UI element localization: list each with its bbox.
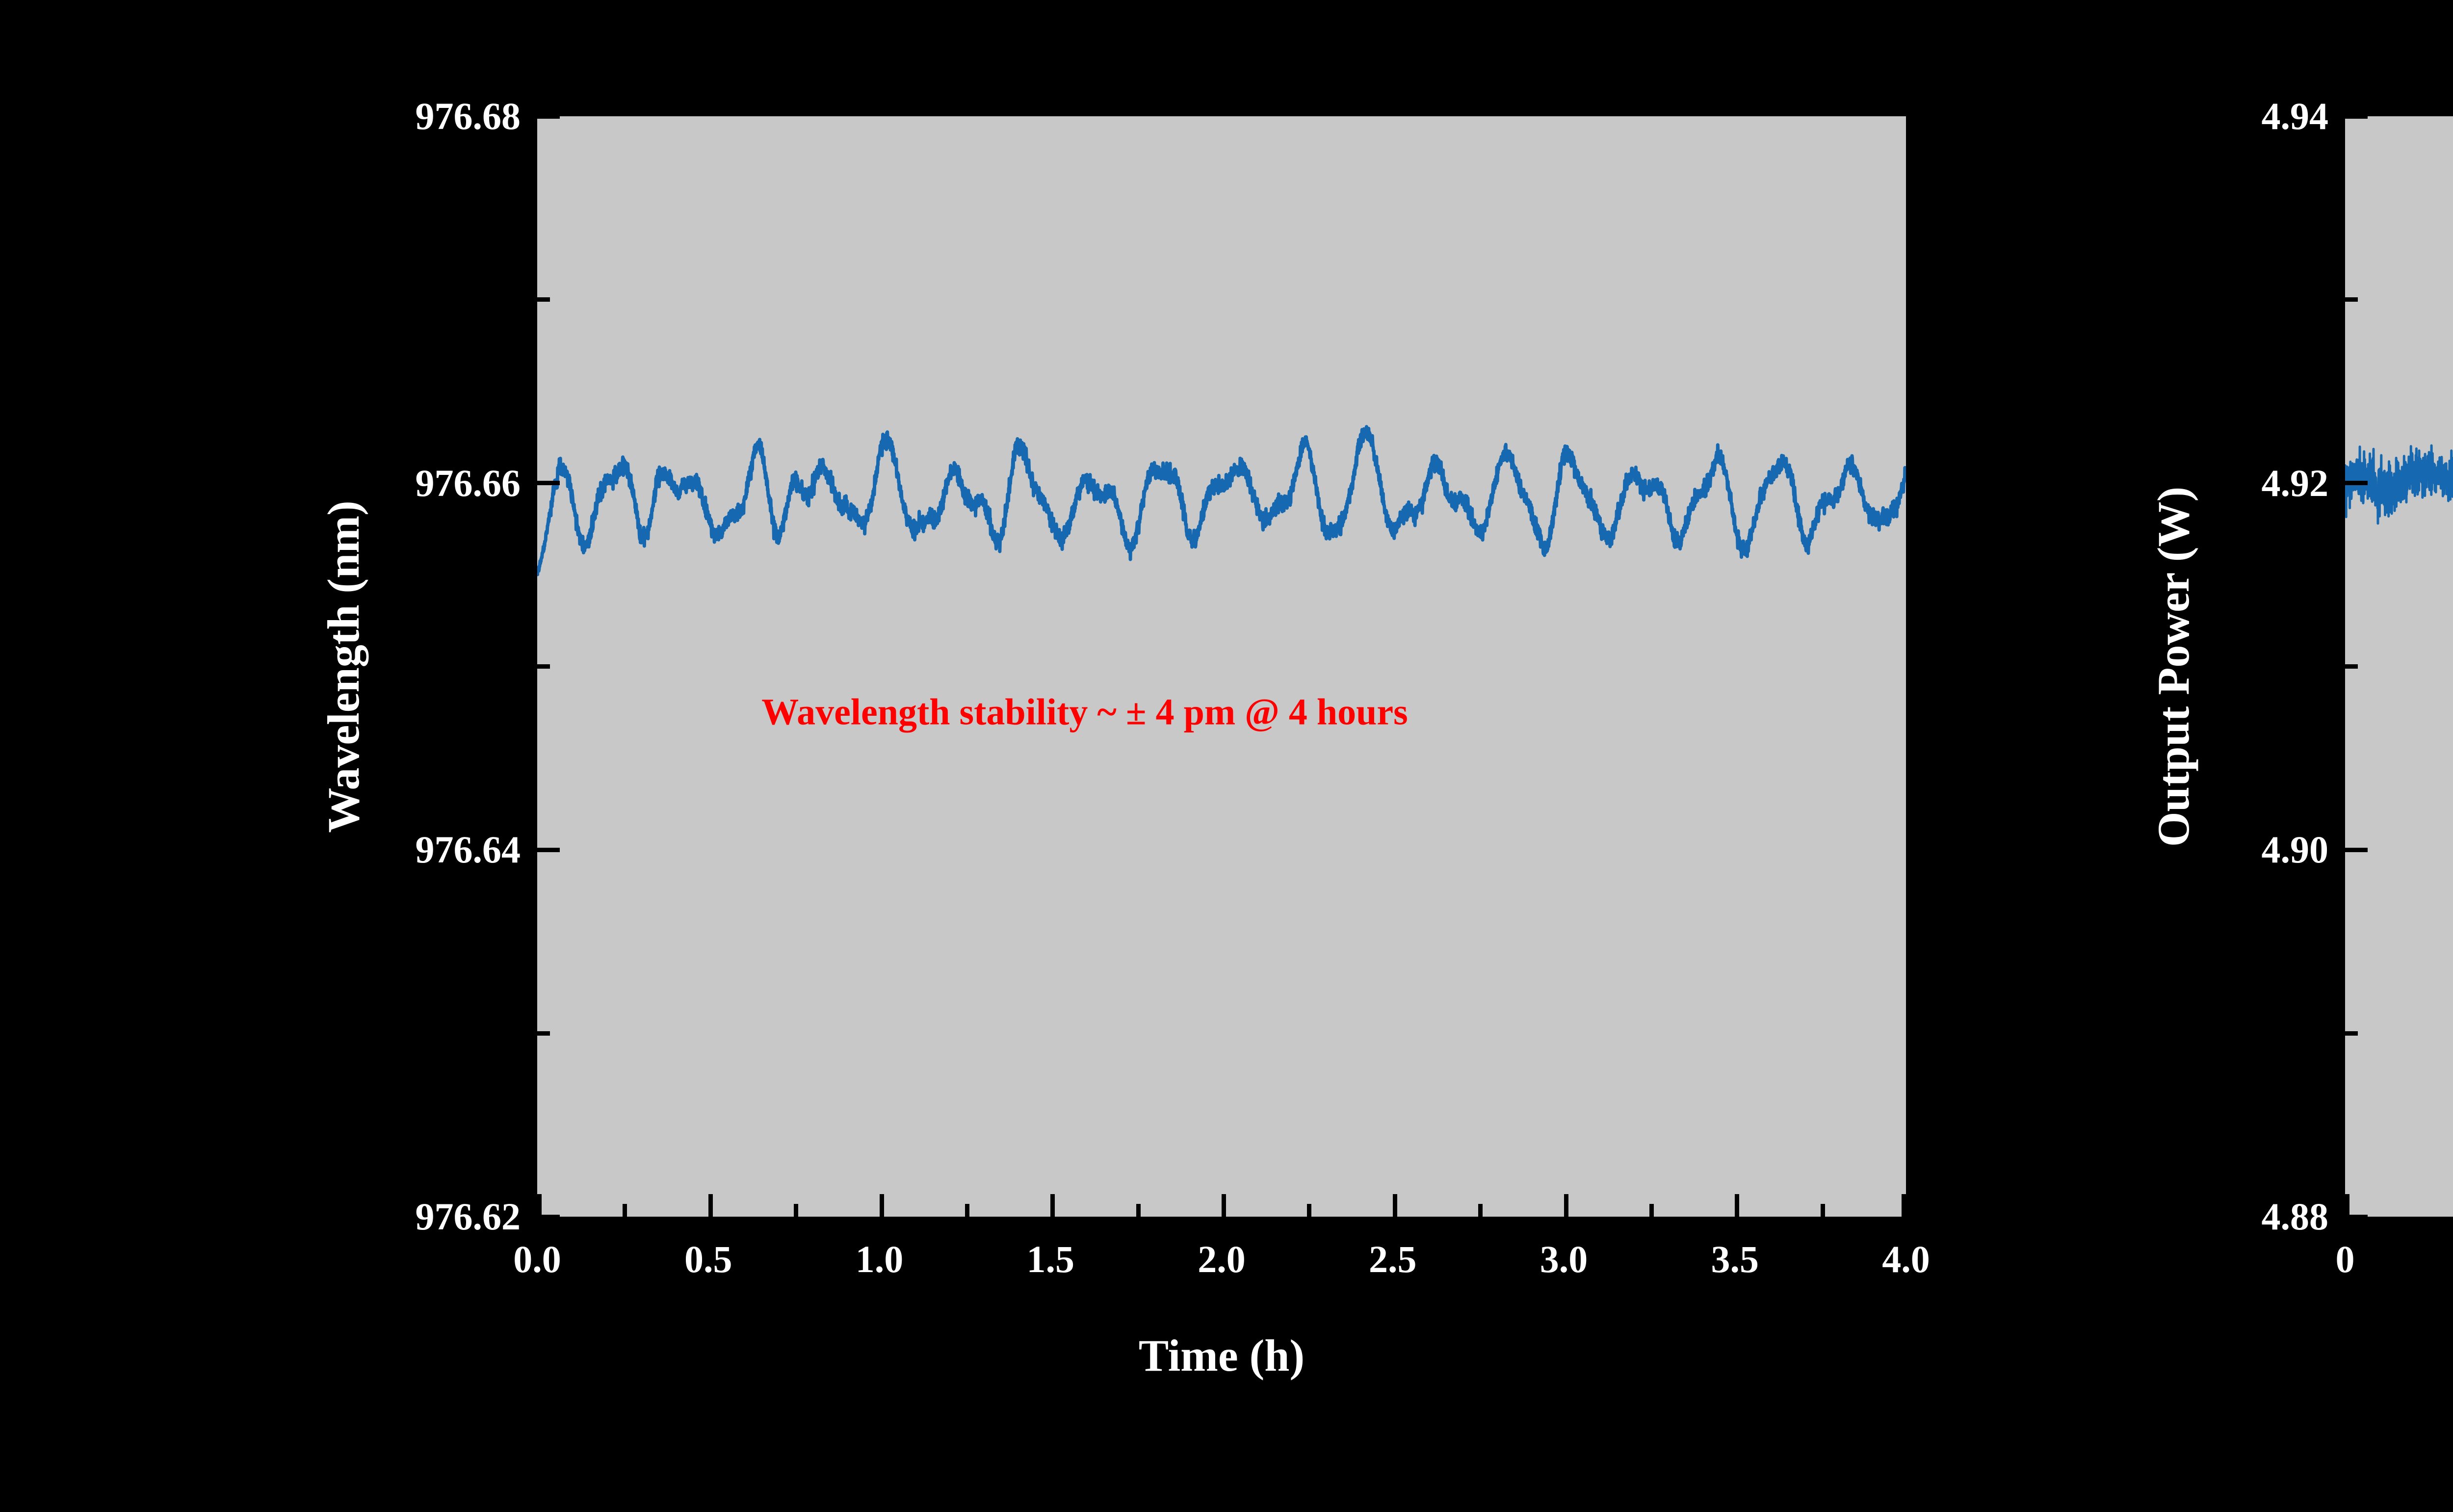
panel-wavelength-stability: 976.68976.66976.64976.62 0.00.51.01.52.0…: [0, 0, 1962, 1512]
y-minor-tick: [537, 1031, 550, 1036]
x-axis-title-time-left: Time (h): [1139, 1330, 1305, 1382]
y-major-tick: [537, 848, 560, 852]
annotation-wavelength-stability: Wavelength stability ~ ± 4 pm @ 4 hours: [761, 691, 1408, 733]
y-tick-label: 976.64: [0, 828, 521, 872]
plot-area-wavelength: [537, 116, 1906, 1217]
y-tick-label: 976.62: [0, 1195, 521, 1239]
x-tick-label: 2.5: [1369, 1237, 1417, 1281]
panel-output-power-stability: 4.944.924.904.88 02468 Output Power (W) …: [1962, 0, 2453, 1512]
y-minor-tick: [537, 664, 550, 669]
x-minor-tick: [623, 1204, 627, 1217]
x-major-tick: [2345, 1194, 2349, 1217]
x-major-tick: [1564, 1194, 1568, 1217]
x-tick-label: 0.0: [513, 1237, 561, 1281]
plot-area-output-power: [2345, 116, 2453, 1217]
x-major-tick: [1393, 1194, 1397, 1217]
x-minor-tick: [1136, 1204, 1141, 1217]
x-minor-tick: [1478, 1204, 1483, 1217]
x-tick-label: 2.0: [1198, 1237, 1246, 1281]
x-tick-label: 3.5: [1711, 1237, 1759, 1281]
x-minor-tick: [794, 1204, 798, 1217]
stability-figure: 976.68976.66976.64976.62 0.00.51.01.52.0…: [0, 0, 2453, 1512]
x-major-tick: [1735, 1194, 1739, 1217]
x-major-tick: [1222, 1194, 1226, 1217]
y-axis-title-wavelength: Wavelength (nm): [317, 500, 369, 833]
x-minor-tick: [1649, 1204, 1654, 1217]
y-major-tick: [2345, 848, 2368, 852]
x-tick-label: 3.0: [1540, 1237, 1588, 1281]
y-tick-label: 4.92: [1962, 461, 2328, 505]
y-axis-title-output-power: Output Power (W): [2147, 486, 2199, 846]
x-tick-label: 0: [2336, 1237, 2355, 1281]
y-major-tick: [2345, 114, 2368, 119]
y-major-tick: [2345, 481, 2368, 485]
x-tick-label: 1.5: [1027, 1237, 1075, 1281]
y-minor-tick: [2345, 664, 2358, 669]
y-minor-tick: [2345, 1031, 2358, 1036]
y-tick-label: 4.90: [1962, 828, 2328, 872]
x-major-tick: [537, 1194, 542, 1217]
y-tick-label: 976.68: [0, 94, 521, 138]
output-power-trace: [2345, 116, 2453, 1217]
x-tick-label: 0.5: [684, 1237, 732, 1281]
trace-path: [2345, 445, 2453, 537]
y-tick-label: 976.66: [0, 461, 521, 505]
y-tick-label: 4.88: [1962, 1195, 2328, 1239]
x-minor-tick: [965, 1204, 969, 1217]
x-tick-label: 4.0: [1882, 1237, 1930, 1281]
x-minor-tick: [1821, 1204, 1825, 1217]
wavelength-trace: [537, 116, 1906, 1217]
x-major-tick: [708, 1194, 713, 1217]
x-tick-label: 1.0: [856, 1237, 904, 1281]
y-minor-tick: [537, 297, 550, 302]
y-minor-tick: [2345, 297, 2358, 302]
y-major-tick: [537, 114, 560, 119]
x-major-tick: [1902, 1194, 1906, 1217]
y-tick-label: 4.94: [1962, 94, 2328, 138]
x-minor-tick: [1307, 1204, 1311, 1217]
x-major-tick: [880, 1194, 884, 1217]
y-major-tick: [537, 481, 560, 485]
x-major-tick: [1050, 1194, 1055, 1217]
trace-path: [537, 427, 1906, 574]
